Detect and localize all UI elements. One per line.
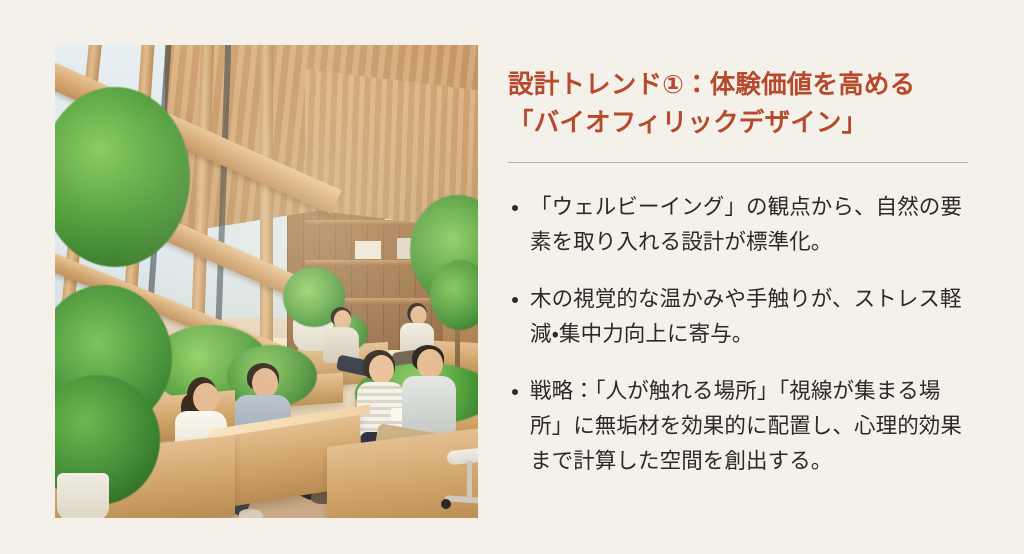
slide-title: 設計トレンド①：体験価値を高める 「バイオフィリックデザイン」 [508, 66, 970, 142]
head [193, 383, 219, 413]
office-chair-stem [467, 461, 472, 499]
bullet-list: 「ウェルビーイング」の観点から、自然の要素を取り入れる設計が標準化。 木の視覚的… [508, 190, 970, 479]
head [417, 349, 443, 379]
title-divider [508, 162, 968, 163]
shoe [239, 509, 263, 518]
photo-biophilic-office [55, 45, 478, 518]
head [369, 355, 394, 384]
bullet-item: 「ウェルビーイング」の観点から、自然の要素を取り入れる設計が標準化。 [508, 190, 970, 260]
text-column: 設計トレンド①：体験価値を高める 「バイオフィリックデザイン」 「ウェルビーイン… [508, 66, 970, 479]
slide-root: 設計トレンド①：体験価値を高める 「バイオフィリックデザイン」 「ウェルビーイン… [0, 0, 1024, 554]
photo-canvas [55, 45, 478, 518]
torso [402, 376, 456, 434]
bullet-item: 戦略：「人が触れる場所」「視線が集まる場所」に無垢材を効果的に配置し、心理的効果… [508, 374, 970, 479]
bullet-item: 木の視覚的な温かみや手触りが、ストレス軽減・集中力向上に寄与。 [508, 282, 970, 352]
head [410, 306, 426, 325]
shelf-box [355, 241, 381, 259]
head [252, 368, 278, 398]
planter-pot [57, 473, 109, 518]
office-chair-wheel [441, 499, 451, 509]
